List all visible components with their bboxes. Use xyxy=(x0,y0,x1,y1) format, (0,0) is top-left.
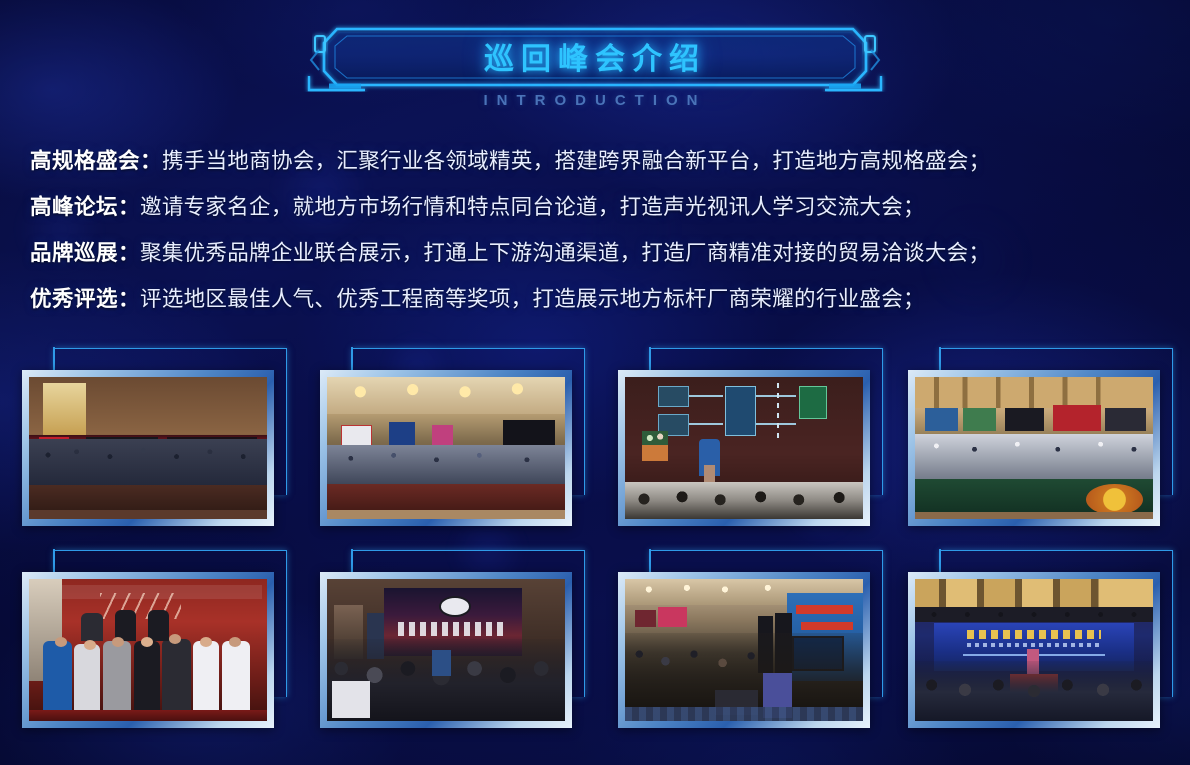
photo-frame xyxy=(618,370,870,526)
photo-frame xyxy=(22,370,274,526)
photo-frame xyxy=(908,572,1160,728)
photo-gallery: 会议大厅观众席全景，木纹墙面与红色横幅 宴会厅论坛现场，吊灯与展板背景 xyxy=(0,348,1190,748)
bullet-value: 聚集优秀品牌企业联合展示，打通上下游沟通渠道，打造厂商精准对接的贸易洽谈大会； xyxy=(140,241,990,265)
photo-frame xyxy=(22,572,274,728)
bullet-line: 品牌巡展：聚集优秀品牌企业联合展示，打通上下游沟通渠道，打造厂商精准对接的贸易洽… xyxy=(30,230,1170,276)
gallery-item[interactable]: 宴会厅论坛现场，吊灯与展板背景 xyxy=(320,348,576,526)
gallery-item[interactable]: 演讲嘉宾台上讲解音响系统架构图 xyxy=(618,348,874,526)
gallery-item[interactable]: 新产品新技术新解决方案发布会舞台 xyxy=(908,550,1164,728)
gallery-item[interactable]: 金色宴会厅满座观众与绿色桌布主席台 xyxy=(908,348,1164,526)
photo-frame xyxy=(320,572,572,728)
photo-8[interactable] xyxy=(915,579,1153,721)
gallery-item[interactable]: 展台演示区观众围观大屏幕演讲 xyxy=(320,550,576,728)
gallery-item[interactable]: 展会通道人流与音响设备展位 xyxy=(618,550,874,728)
photo-frame xyxy=(908,370,1160,526)
poster-root: 巡回峰会介绍 INTRODUCTION 高规格盛会：携手当地商协会，汇聚行业各领… xyxy=(0,0,1190,765)
photo-6[interactable] xyxy=(327,579,565,721)
gallery-item[interactable]: 颁奖合影，十一位嘉宾红色背景板前合影 xyxy=(22,550,278,728)
bullet-key: 优秀评选： xyxy=(30,287,140,311)
page-subtitle: INTRODUCTION xyxy=(0,92,1190,109)
intro-bullet-list: 高规格盛会：携手当地商协会，汇聚行业各领域精英，搭建跨界融合新平台，打造地方高规… xyxy=(30,138,1170,322)
photo-4[interactable] xyxy=(915,377,1153,519)
bullet-key: 高峰论坛： xyxy=(30,195,140,219)
bullet-value: 评选地区最佳人气、优秀工程商等奖项，打造展示地方标杆厂商荣耀的行业盛会； xyxy=(140,287,925,311)
bullet-line: 优秀评选：评选地区最佳人气、优秀工程商等奖项，打造展示地方标杆厂商荣耀的行业盛会… xyxy=(30,276,1170,322)
bullet-key: 高规格盛会： xyxy=(30,149,162,173)
bullet-value: 携手当地商协会，汇聚行业各领域精英，搭建跨界融合新平台，打造地方高规格盛会； xyxy=(162,149,990,173)
photo-frame xyxy=(618,572,870,728)
bullet-key: 品牌巡展： xyxy=(30,241,140,265)
page-title: 巡回峰会介绍 xyxy=(303,20,887,92)
photo-1[interactable] xyxy=(29,377,267,519)
photo-3[interactable] xyxy=(625,377,863,519)
bullet-line: 高规格盛会：携手当地商协会，汇聚行业各领域精英，搭建跨界融合新平台，打造地方高规… xyxy=(30,138,1170,184)
title-banner: 巡回峰会介绍 xyxy=(303,20,887,92)
photo-2[interactable] xyxy=(327,377,565,519)
photo-5[interactable] xyxy=(29,579,267,721)
bullet-value: 邀请专家名企，就地方市场行情和特点同台论道，打造声光视讯人学习交流大会； xyxy=(140,195,925,219)
bullet-line: 高峰论坛：邀请专家名企，就地方市场行情和特点同台论道，打造声光视讯人学习交流大会… xyxy=(30,184,1170,230)
gallery-item[interactable]: 会议大厅观众席全景，木纹墙面与红色横幅 xyxy=(22,348,278,526)
photo-7[interactable] xyxy=(625,579,863,721)
photo-frame xyxy=(320,370,572,526)
